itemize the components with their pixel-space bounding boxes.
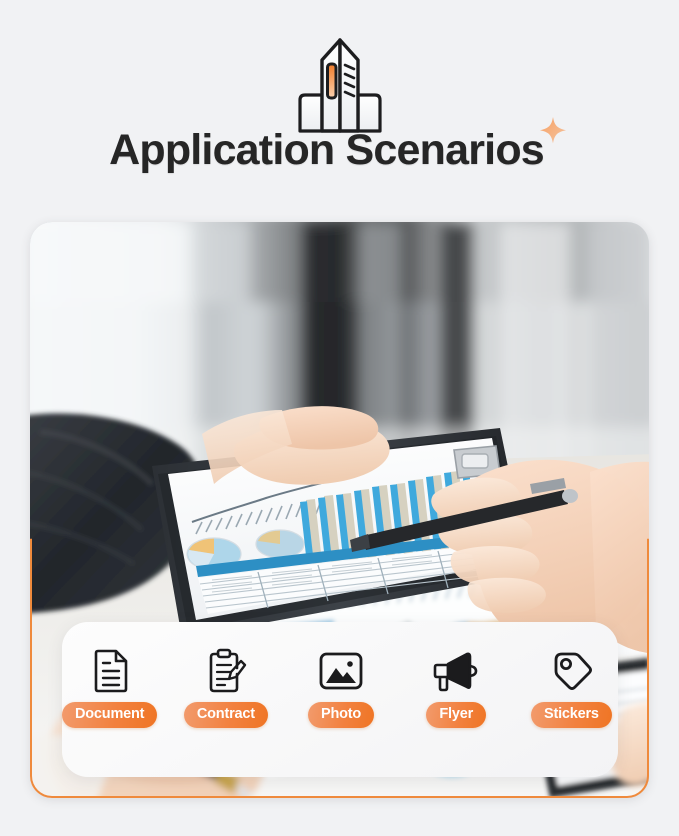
badge-flyer[interactable]: Flyer bbox=[410, 648, 503, 728]
building-logo-icon bbox=[278, 34, 402, 139]
badge-label-flyer: Flyer bbox=[426, 702, 486, 728]
badge-label-stickers: Stickers bbox=[531, 702, 612, 728]
title-row: Application Scenarios bbox=[0, 128, 679, 173]
megaphone-icon bbox=[433, 648, 479, 694]
badge-photo[interactable]: Photo bbox=[294, 648, 387, 728]
badge-document[interactable]: Document bbox=[62, 648, 157, 728]
clipboard-pencil-icon bbox=[204, 648, 248, 694]
price-tag-icon bbox=[549, 648, 593, 694]
image-icon bbox=[318, 648, 364, 694]
logo-wrap bbox=[0, 34, 679, 139]
page-title: Application Scenarios bbox=[109, 128, 544, 173]
page-root: Application Scenarios bbox=[0, 0, 679, 836]
badge-row: Document bbox=[62, 648, 618, 728]
badge-stickers[interactable]: Stickers bbox=[525, 648, 618, 728]
scenario-badge-panel: Document bbox=[62, 622, 618, 777]
badge-label-document: Document bbox=[62, 702, 157, 728]
sparkle-icon bbox=[536, 114, 570, 153]
badge-label-photo: Photo bbox=[308, 702, 374, 728]
badge-contract[interactable]: Contract bbox=[179, 648, 272, 728]
page-header: Application Scenarios bbox=[0, 0, 679, 212]
document-icon bbox=[90, 648, 130, 694]
badge-label-contract: Contract bbox=[184, 702, 268, 728]
